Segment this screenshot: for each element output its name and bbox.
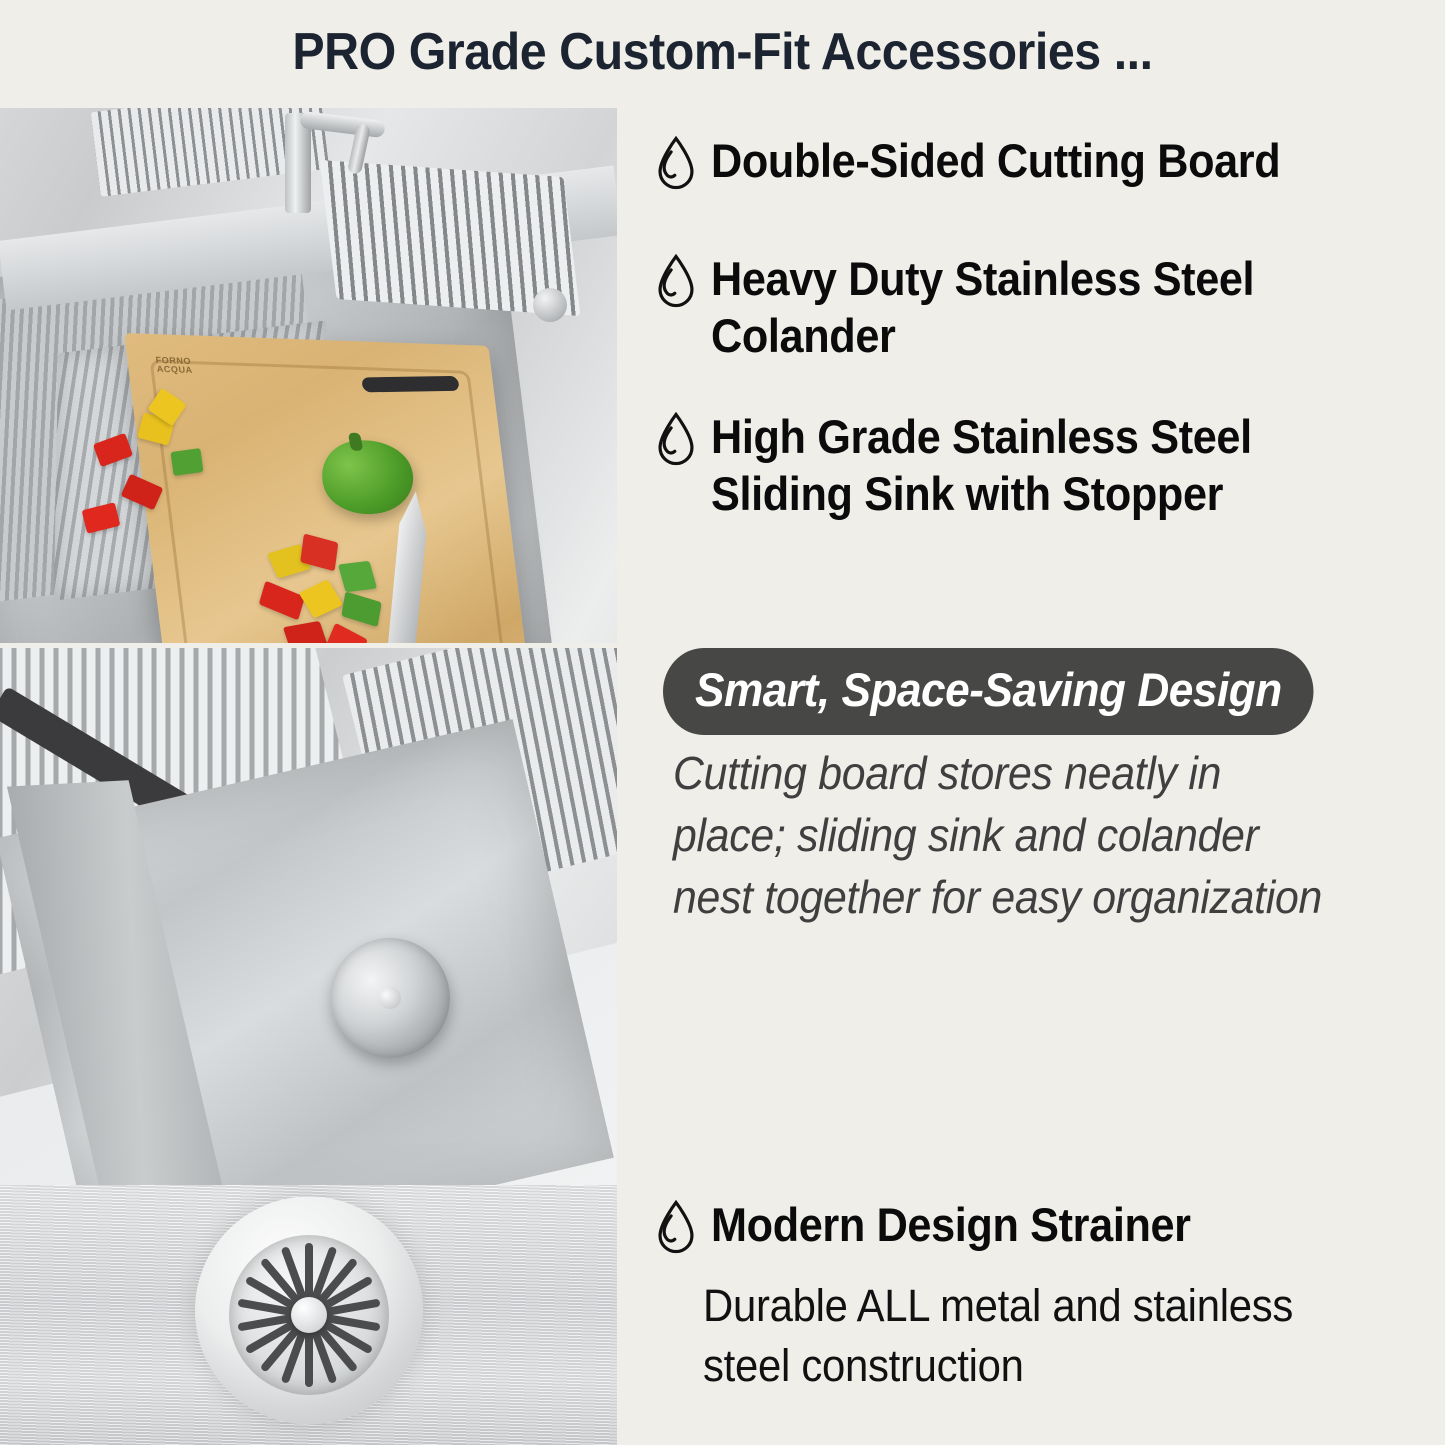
water-drop-icon <box>655 254 697 308</box>
photo3-strainer-slot <box>305 1243 313 1301</box>
photo1-board-grip-slot <box>361 376 460 392</box>
feature-label: Heavy Duty Stainless Steel Colander <box>711 250 1346 364</box>
design-description: Cutting board stores neatly in place; sl… <box>673 742 1343 928</box>
feature-label: High Grade Stainless Steel Sliding Sink … <box>711 408 1383 522</box>
feature-item-strainer: Modern Design Strainer <box>655 1196 1232 1254</box>
strainer-subtext: Durable ALL metal and stainless steel co… <box>703 1276 1382 1396</box>
feature-item-colander: Heavy Duty Stainless Steel Colander <box>655 250 1401 364</box>
photo-strainer-closeup: FORNO ACQUA® <box>0 1185 617 1445</box>
photo-workstation-sink-cutting-board: FORNOACQUA <box>0 108 617 643</box>
feature-item-cutting-board: Double-Sided Cutting Board <box>655 132 1330 190</box>
water-drop-icon <box>655 412 697 466</box>
photo1-board-brand-mark: FORNOACQUA <box>155 356 193 375</box>
water-drop-icon <box>655 136 697 190</box>
photo1-cutting-board: FORNOACQUA <box>124 333 536 643</box>
feature-label: Double-Sided Cutting Board <box>711 132 1280 189</box>
photo1-colander-pepper <box>170 448 203 476</box>
water-drop-icon <box>655 1200 697 1254</box>
photo1-sink-knob <box>533 288 567 322</box>
photo-sink-basin-colander-nested <box>0 648 617 1185</box>
feature-label: Modern Design Strainer <box>711 1196 1191 1253</box>
photo3-strainer-cap <box>291 1297 327 1333</box>
photo3-strainer-slot <box>305 1329 313 1387</box>
status-badge: Smart, Space-Saving Design <box>663 648 1314 735</box>
feature-item-sliding-sink: High Grade Stainless Steel Sliding Sink … <box>655 408 1441 522</box>
features-panel: Double-Sided Cutting Board Heavy Duty St… <box>645 0 1445 1445</box>
